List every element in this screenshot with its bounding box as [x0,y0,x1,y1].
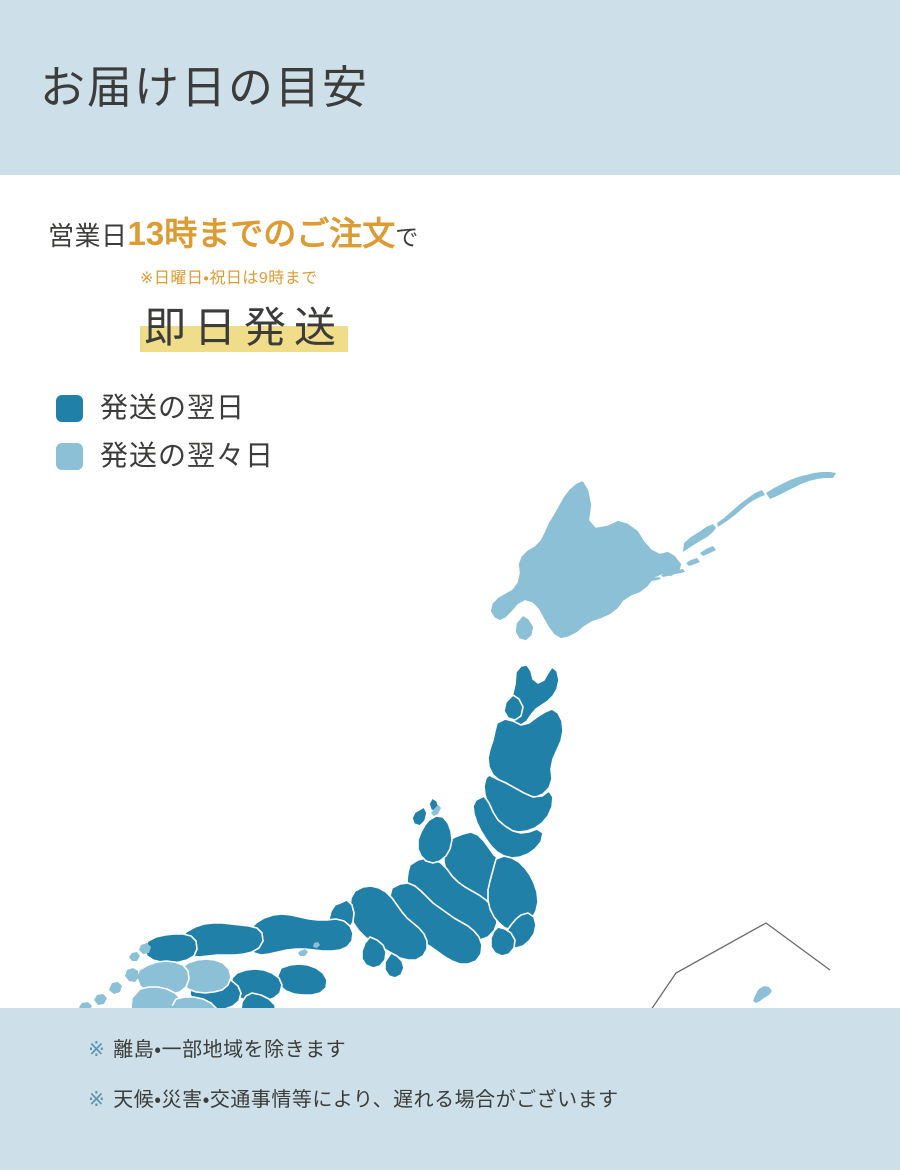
order-cutoff-subnote: ※日曜日・祝日は9時まで [0,264,500,288]
header-band: お届け日の目安 [0,0,900,175]
legend-swatch-next-day [56,395,83,422]
delivery-info-block: 営業日13時までのご注文で ※日曜日・祝日は9時まで 即日発送 発送の翌日 発送… [0,213,500,490]
page-title: お届け日の目安 [40,63,369,113]
legend-label-two-days: 発送の翌々日 [100,442,274,470]
order-cutoff-prefix: 営業日 [48,221,128,251]
map-region-kanto [488,856,538,956]
order-cutoff-accent: 13時までのご注文 [128,215,396,252]
order-cutoff-suffix: で [395,224,419,250]
footer-note-2-text: 天候・災害・交通事情等により、遅れる場合がございます [113,1089,618,1111]
legend-swatch-two-days [56,443,83,470]
legend-item-two-days: 発送の翌々日 [56,442,500,470]
note-mark-icon: ※ [88,1039,105,1061]
footer-note-2: ※天候・災害・交通事情等により、遅れる場合がございます [88,1090,900,1110]
note-mark-icon: ※ [88,1089,105,1111]
map-region-okinawa-inset [636,923,830,1008]
map-region-hokkaido [490,480,682,641]
footer-note-1: ※離島・一部地域を除きます [88,1040,900,1060]
footer-note-1-text: 離島・一部地域を除きます [113,1039,346,1061]
same-day-shipping-wrap: 即日発送 [0,306,500,350]
map-region-tohoku [473,665,563,858]
map-legend: 発送の翌日 発送の翌々日 [0,394,500,470]
main-content: 営業日13時までのご注文で ※日曜日・祝日は9時まで 即日発送 発送の翌日 発送… [0,175,900,1008]
same-day-shipping-label: 即日発送 [144,304,344,351]
footer-band: ※離島・一部地域を除きます ※天候・災害・交通事情等により、遅れる場合がございま… [0,1008,900,1170]
delivery-estimate-page: お届け日の目安 [0,0,900,1170]
order-cutoff-line: 営業日13時までのご注文で [0,213,500,254]
map-region-chugoku [144,914,353,963]
legend-item-next-day: 発送の翌日 [56,394,500,422]
legend-label-next-day: 発送の翌日 [100,394,245,422]
same-day-shipping-badge: 即日発送 [140,306,348,350]
